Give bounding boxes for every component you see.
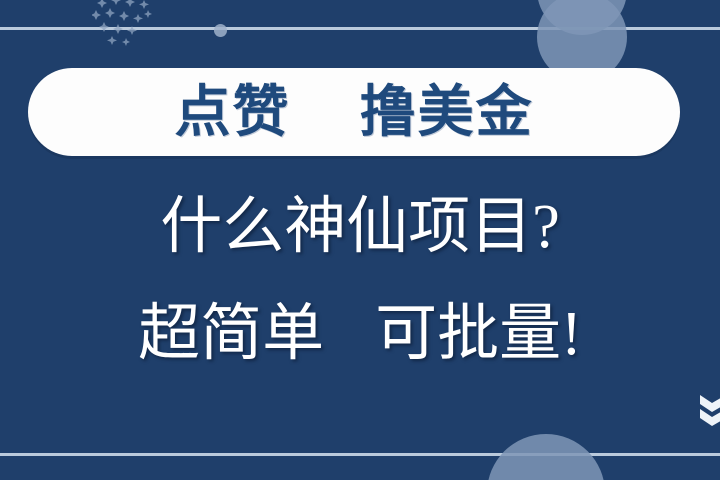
body-line-2: 超简单 可批量! [0,303,720,366]
promo-banner: 点赞 撸美金 什么神仙项目? 超简单 可批量! [0,0,720,480]
sparkles-icon [92,0,172,46]
headline-part-2: 撸美金 [360,80,534,143]
headline-part-1: 点赞 [174,80,290,143]
small-dot-decoration [214,24,227,37]
body-line-1: 什么神仙项目? [0,196,720,259]
top-horizontal-rule [0,27,720,30]
bottom-horizontal-rule [0,453,720,456]
body-copy: 什么神仙项目? 超简单 可批量! [0,196,720,366]
headline-pill: 点赞 撸美金 [28,68,680,156]
headline-text: 点赞 撸美金 [174,84,533,140]
body-line-2-part-2: 可批量! [375,300,582,368]
body-line-2-part-1: 超简单 [138,300,324,368]
bottom-circle-decoration [487,434,605,480]
double-chevron-icon [684,393,720,433]
top-circle-decoration [537,0,627,35]
